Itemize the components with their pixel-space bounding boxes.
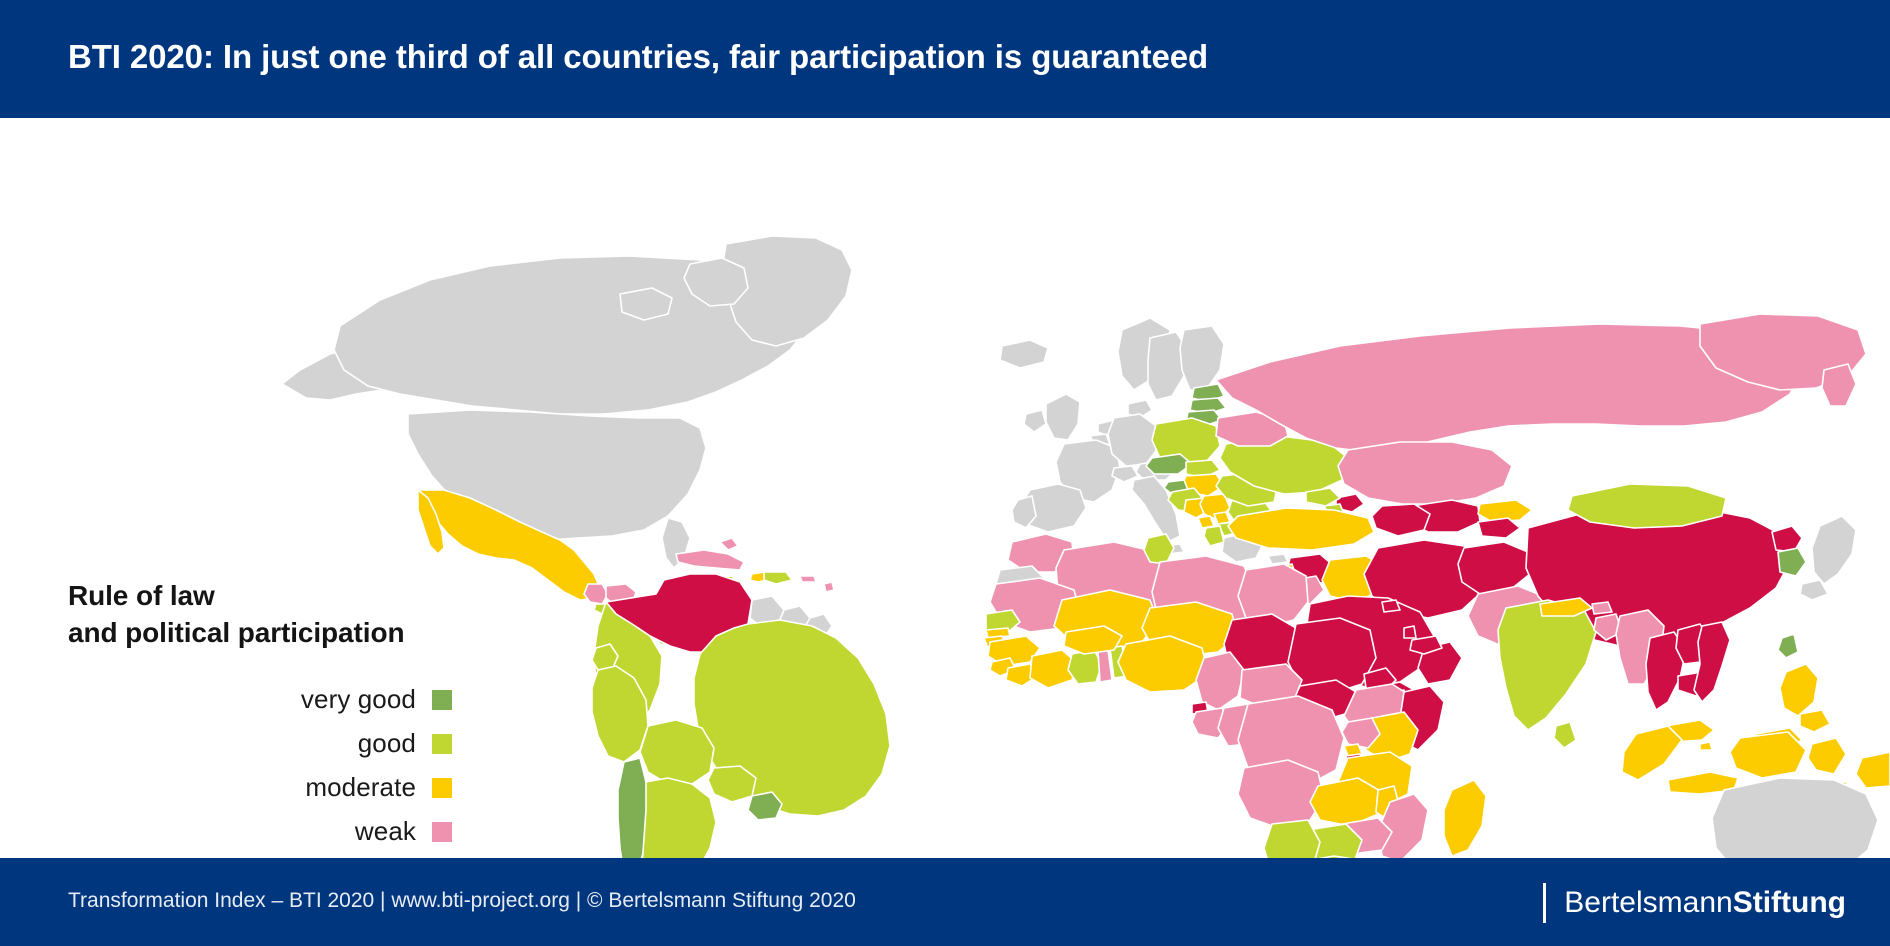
- country-namibia: [1264, 820, 1320, 858]
- country-puerto-rico: [800, 576, 816, 582]
- country-australia: [1712, 778, 1878, 858]
- logo-bertelsmann: Bertelsmann: [1564, 886, 1732, 919]
- header-banner: BTI 2020: In just one third of all count…: [0, 0, 1890, 118]
- legend-item-good[interactable]: good: [68, 722, 452, 766]
- legend-swatch-weak: [432, 822, 452, 842]
- country-nigeria: [1118, 636, 1208, 692]
- footer-banner: Transformation Index – BTI 2020 | www.bt…: [0, 858, 1890, 946]
- legend-item-moderate[interactable]: moderate: [68, 766, 452, 810]
- map-legend: Rule of law and political participation …: [68, 578, 488, 858]
- country-lesser-antilles: [824, 582, 834, 592]
- footer-credit-text: Transformation Index – BTI 2020 | www.bt…: [68, 889, 856, 913]
- country-angola: [1238, 760, 1324, 828]
- legend-label-good: good: [358, 728, 432, 759]
- country-singapore: [1700, 742, 1712, 750]
- legend-item-weak[interactable]: weak: [68, 810, 452, 854]
- bertelsmann-stiftung-logo: BertelsmannStiftung: [1543, 882, 1846, 924]
- legend-label-weak: weak: [355, 816, 432, 847]
- logo-wordmark: BertelsmannStiftung: [1564, 886, 1846, 920]
- legend-items: very good good moderate weak very weak: [68, 678, 488, 858]
- legend-swatch-very-good: [432, 690, 452, 710]
- country-qatar: [1404, 626, 1416, 638]
- country-bhutan: [1592, 602, 1612, 614]
- legend-item-very-good[interactable]: very good: [68, 678, 452, 722]
- legend-swatch-good: [432, 734, 452, 754]
- legend-label-very-good: very good: [301, 684, 432, 715]
- legend-swatch-moderate: [432, 778, 452, 798]
- logo-stiftung: Stiftung: [1733, 886, 1846, 919]
- logo-rule-divider: [1543, 883, 1546, 923]
- world-map-container: .c-nd { fill:#D3D3D3; } .c-vg { fill:#7F…: [0, 118, 1890, 858]
- country-bolivia: [640, 720, 714, 784]
- country-kuwait: [1382, 600, 1400, 612]
- legend-label-moderate: moderate: [305, 772, 432, 803]
- page-title: BTI 2020: In just one third of all count…: [68, 38, 1208, 76]
- legend-title: Rule of law and political participation: [68, 578, 488, 652]
- country-cyprus: [1268, 554, 1288, 564]
- legend-item-very-weak[interactable]: very weak: [68, 854, 452, 858]
